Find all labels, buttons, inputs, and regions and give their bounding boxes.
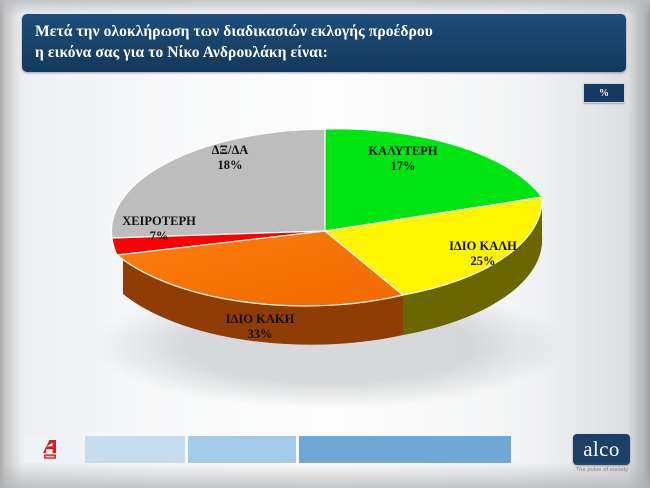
header-title-band: Μετά την ολοκλήρωση των διαδικασιών εκλο… [22,14,626,72]
pie-chart: ΚΑΛΥΤΕΡΗ 17% ΙΔΙΟ ΚΑΛΗ 25% ΙΔΙΟ ΚΑΚΗ 33%… [0,96,650,414]
footer-color-blocks [24,436,511,463]
footer-block-4 [299,436,511,463]
header-line-1: Μετά την ολοκλήρωση των διαδικασιών εκλο… [35,21,626,42]
footer-bar: alco The pulse of society [0,426,650,488]
alpha-mark-icon [38,439,62,461]
footer-block-2 [85,436,185,463]
pie-chart-svg [0,96,650,414]
footer-block-3 [188,436,296,463]
header-line-2: η εικόνα σας για το Νίκο Ανδρουλάκη είνα… [35,42,626,63]
alco-tagline: The pulse of society [570,467,634,473]
alco-logo: alco [573,434,630,465]
pie-slice-dx-da[interactable] [111,129,325,238]
slide-canvas: Μετά την ολοκλήρωση των διαδικασιών εκλο… [0,0,650,488]
